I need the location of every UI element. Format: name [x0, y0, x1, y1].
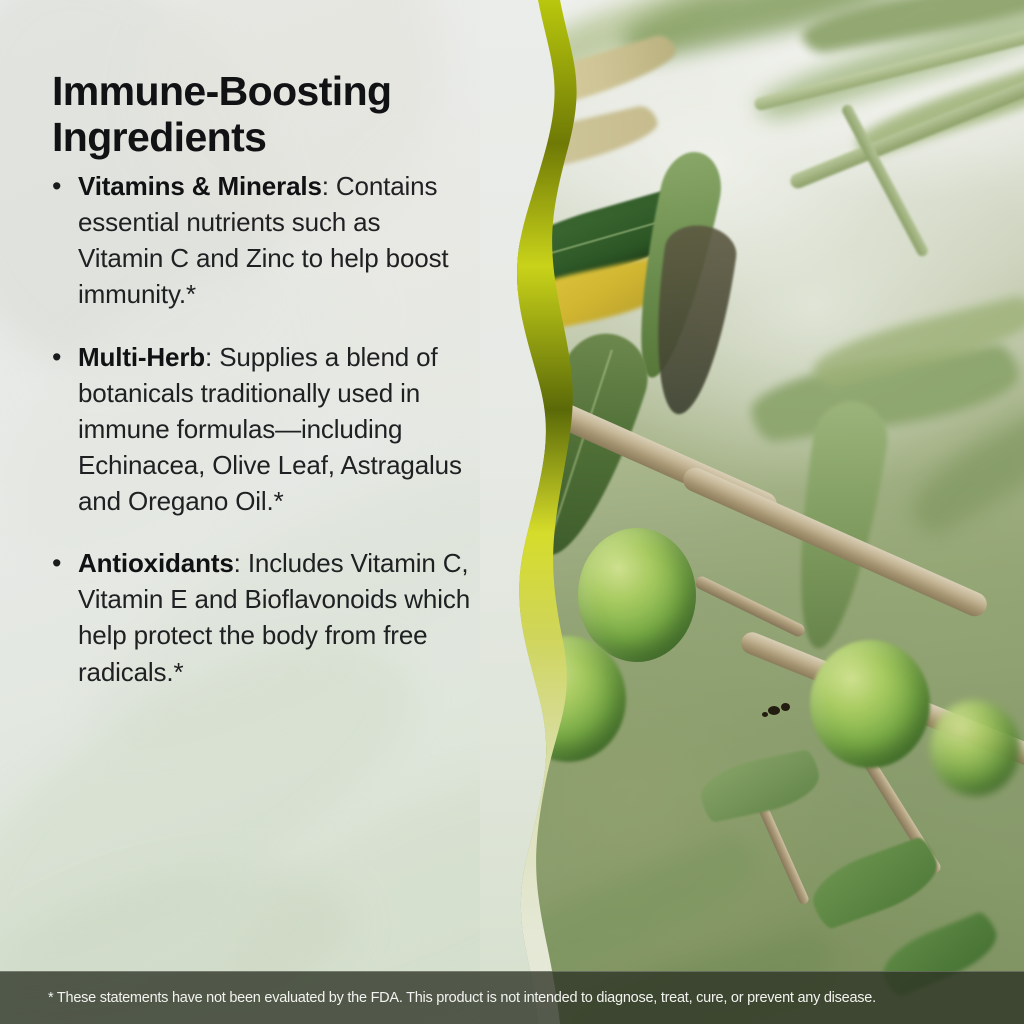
list-item-lead: Antioxidants — [78, 548, 234, 578]
page-title: Immune-Boosting Ingredients — [52, 69, 482, 161]
list-item-lead: Multi-Herb — [78, 342, 205, 372]
list-item-separator: : — [205, 342, 219, 372]
footer-bar: * These statements have not been evaluat… — [0, 971, 1024, 1024]
list-item-text: Antioxidants: Includes Vitamin C, Vitami… — [78, 545, 472, 690]
list-item: • Vitamins & Minerals: Contains essentia… — [52, 168, 472, 313]
list-item-separator: : — [234, 548, 248, 578]
bullet-icon: • — [52, 545, 78, 690]
list-item: • Antioxidants: Includes Vitamin C, Vita… — [52, 545, 472, 690]
list-item-lead: Vitamins & Minerals — [78, 171, 322, 201]
list-item-text: Vitamins & Minerals: Contains essential … — [78, 168, 472, 313]
bullet-icon: • — [52, 339, 78, 520]
text-content: Immune-Boosting Ingredients • Vitamins &… — [0, 0, 600, 1024]
list-item: • Multi-Herb: Supplies a blend of botani… — [52, 339, 472, 520]
poster-canvas: Immune-Boosting Ingredients • Vitamins &… — [0, 0, 1024, 1024]
ingredients-list: • Vitamins & Minerals: Contains essentia… — [52, 168, 472, 690]
list-item-text: Multi-Herb: Supplies a blend of botanica… — [78, 339, 472, 520]
list-item-separator: : — [322, 171, 336, 201]
bullet-icon: • — [52, 168, 78, 313]
fda-disclaimer: * These statements have not been evaluat… — [48, 990, 876, 1006]
